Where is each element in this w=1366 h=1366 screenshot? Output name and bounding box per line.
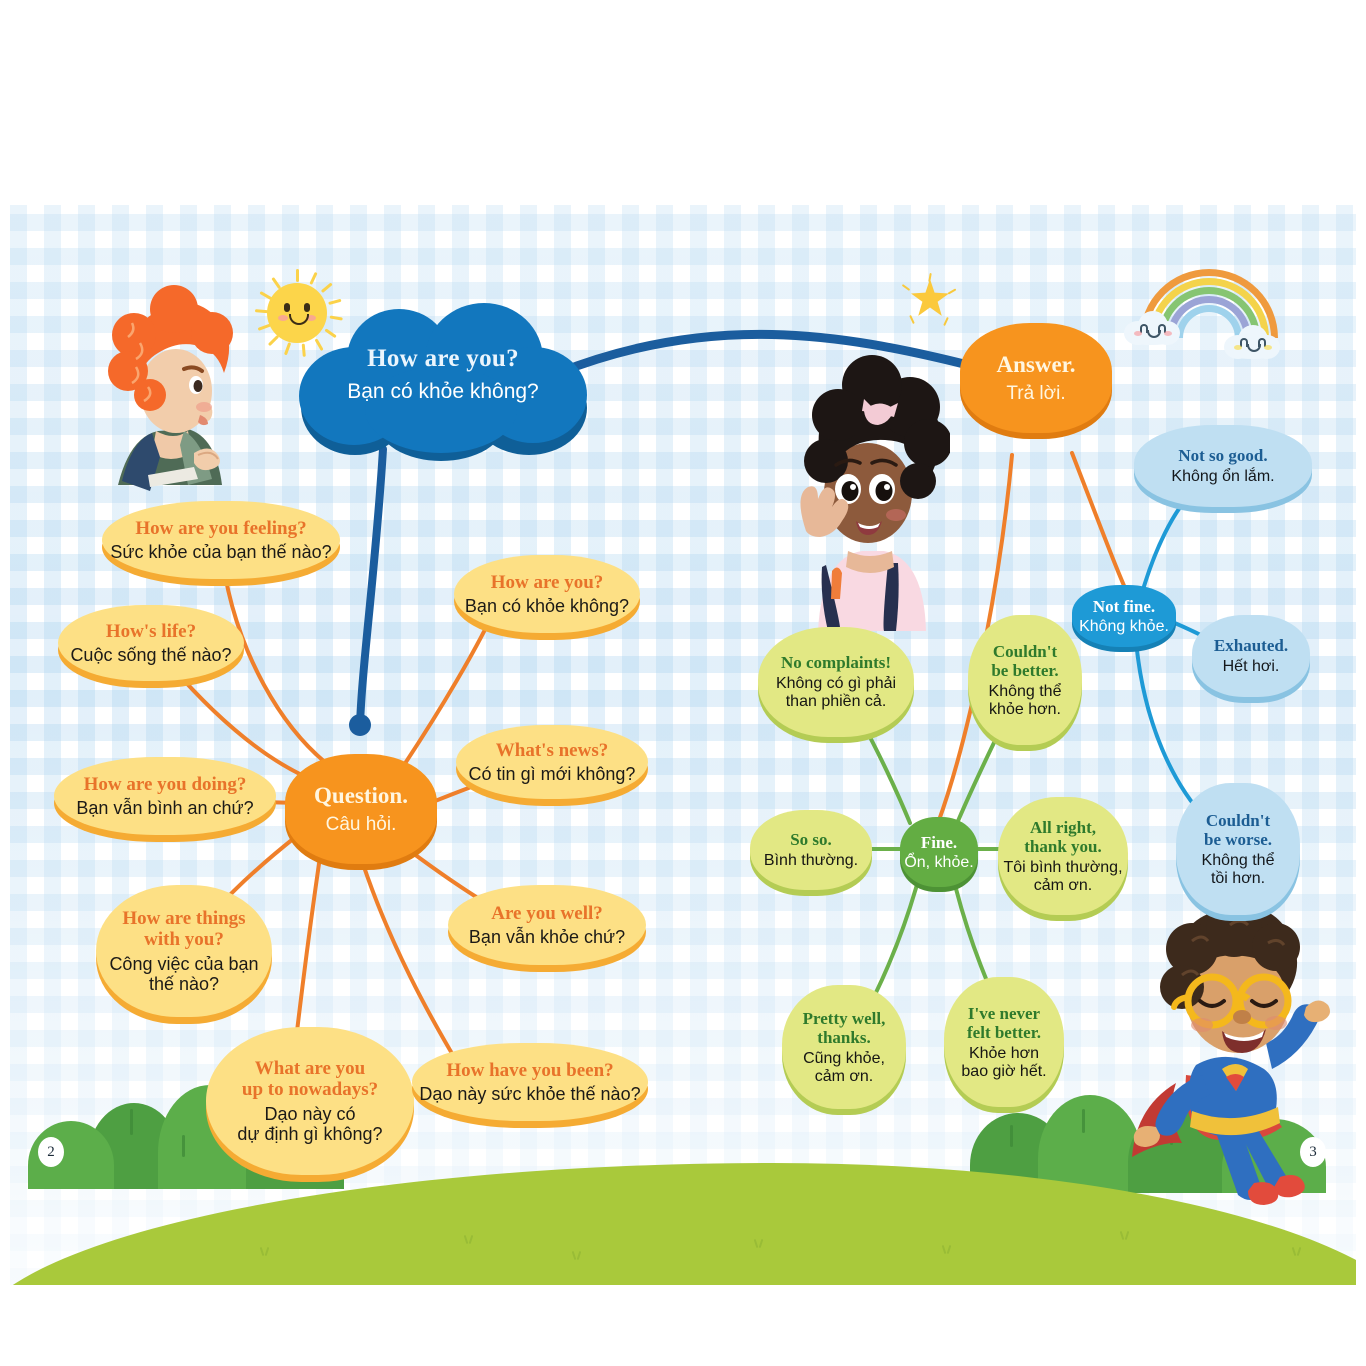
leaf-vi: Bạn vẫn bình an chứ?: [76, 798, 253, 818]
book-spread-page: How are you? Bạn có khỏe không?: [0, 0, 1366, 1366]
not-fine-hub-en: Not fine.: [1093, 597, 1155, 616]
leaf-en: How are you feeling?: [135, 518, 306, 539]
leaf-en: All right, thank you.: [1024, 818, 1101, 856]
fine-hub-en: Fine.: [921, 833, 957, 852]
question-leaf-how-are-things-with-you[interactable]: How are things with you? Công việc của b…: [96, 885, 272, 1017]
character-red-hair-boy: [88, 275, 248, 535]
question-hub[interactable]: Question. Câu hỏi.: [285, 754, 437, 864]
not-fine-hub-vi: Không khỏe.: [1079, 618, 1169, 636]
leaf-vi: Không thể tồi hơn.: [1202, 852, 1275, 888]
title-cloud-en: How are you?: [293, 345, 593, 373]
leaf-en: Couldn't be better.: [991, 642, 1058, 680]
star-icon: [903, 273, 957, 327]
leaf-vi: Không có gì phải than phiền cả.: [776, 675, 896, 711]
title-cloud-vi: Bạn có khỏe không?: [293, 380, 593, 404]
fine-hub-vi: Ổn, khỏe.: [904, 854, 973, 872]
answer-leaf-all-right-thank-you[interactable]: All right, thank you. Tôi bình thường, c…: [998, 797, 1128, 915]
leaf-vi: Cuộc sống thế nào?: [70, 645, 231, 665]
character-superhero-boy: [1130, 905, 1356, 1215]
character-waving-girl: [760, 335, 950, 635]
answer-hub[interactable]: Answer. Trả lời.: [960, 323, 1112, 433]
question-leaf-are-you-well[interactable]: Are you well? Bạn vẫn khỏe chứ?: [448, 885, 646, 965]
leaf-vi: Dạo này có dự định gì không?: [237, 1104, 382, 1144]
illustrated-spread: How are you? Bạn có khỏe không?: [10, 205, 1356, 1285]
question-leaf-how-are-you-feeling[interactable]: How are you feeling? Sức khỏe của bạn th…: [102, 501, 340, 579]
rainbow-cloud-face-right: [1224, 325, 1280, 359]
leaf-vi: Có tin gì mới không?: [469, 764, 636, 784]
leaf-en: How's life?: [106, 621, 196, 642]
leaf-en: How are things with you?: [122, 908, 245, 951]
leaf-en: How are you doing?: [84, 774, 247, 795]
leaf-en: I've never felt better.: [967, 1004, 1041, 1042]
answer-leaf-exhauted[interactable]: Exhauted. Hết hơi.: [1192, 615, 1310, 697]
leaf-en: How have you been?: [446, 1060, 613, 1081]
question-leaf-how-have-you-been[interactable]: How have you been? Dạo này sức khỏe thế …: [412, 1043, 648, 1121]
question-hub-vi: Câu hỏi.: [326, 814, 397, 835]
leaf-en: Are you well?: [491, 903, 603, 924]
page-number-left: 2: [38, 1137, 64, 1167]
question-leaf-what-are-you-up-to-nowadays[interactable]: What are you up to nowadays? Dạo này có …: [206, 1027, 414, 1175]
answer-leaf-pretty-well-thanks[interactable]: Pretty well, thanks. Cũng khỏe, cảm ơn.: [782, 985, 906, 1109]
answer-hub-en: Answer.: [996, 352, 1075, 378]
leaf-vi: Bạn vẫn khỏe chứ?: [469, 927, 625, 947]
question-hub-en: Question.: [314, 783, 408, 809]
answer-leaf-couldnt-be-worse[interactable]: Couldn't be worse. Không thể tồi hơn.: [1176, 783, 1300, 915]
question-leaf-how-are-you[interactable]: How are you? Bạn có khỏe không?: [454, 555, 640, 633]
leaf-en: Couldn't be worse.: [1204, 811, 1272, 849]
rainbow-icon: [1138, 267, 1270, 377]
leaf-vi: Khỏe hơn bao giờ hết.: [961, 1045, 1046, 1081]
leaf-vi: Bình thường.: [764, 852, 858, 870]
answer-leaf-no-complaints[interactable]: No complaints! Không có gì phải than phi…: [758, 627, 914, 737]
leaf-en: What are you up to nowadays?: [242, 1058, 378, 1101]
leaf-vi: Không ổn lắm.: [1171, 468, 1274, 486]
leaf-en: So so.: [790, 830, 832, 849]
leaf-vi: Sức khỏe của bạn thế nào?: [110, 542, 331, 562]
answer-hub-vi: Trả lời.: [1006, 383, 1065, 404]
leaf-vi: Hết hơi.: [1223, 658, 1280, 676]
not-fine-hub[interactable]: Not fine. Không khỏe.: [1072, 585, 1176, 647]
leaf-vi: Tôi bình thường, cảm ơn.: [1003, 859, 1122, 895]
answer-leaf-not-so-good[interactable]: Not so good. Không ổn lắm.: [1134, 425, 1312, 507]
leaf-en: Not so good.: [1178, 446, 1267, 465]
answer-leaf-so-so[interactable]: So so. Bình thường.: [750, 810, 872, 890]
leaf-vi: Bạn có khỏe không?: [465, 596, 629, 616]
question-leaf-hows-life[interactable]: How's life? Cuộc sống thế nào?: [58, 605, 244, 681]
question-leaf-whats-news[interactable]: What's news? Có tin gì mới không?: [456, 725, 648, 799]
page-number-right: 3: [1300, 1137, 1326, 1167]
fine-hub[interactable]: Fine. Ổn, khỏe.: [900, 817, 978, 887]
leaf-vi: Cũng khỏe, cảm ơn.: [803, 1050, 885, 1086]
answer-leaf-couldnt-be-better[interactable]: Couldn't be better. Không thể khỏe hơn.: [968, 615, 1082, 745]
leaf-en: Pretty well, thanks.: [803, 1009, 886, 1047]
rainbow-cloud-face-left: [1124, 311, 1180, 345]
leaf-en: How are you?: [491, 572, 604, 593]
leaf-vi: Không thể khỏe hơn.: [989, 683, 1062, 719]
leaf-en: No complaints!: [781, 653, 891, 672]
title-cloud: How are you? Bạn có khỏe không?: [293, 303, 593, 463]
leaf-vi: Dạo này sức khỏe thế nào?: [419, 1084, 640, 1104]
answer-leaf-ive-never-felt-better[interactable]: I've never felt better. Khỏe hơn bao giờ…: [944, 977, 1064, 1107]
leaf-en: What's news?: [496, 740, 608, 761]
leaf-vi: Công việc của bạn thế nào?: [109, 954, 258, 994]
leaf-en: Exhauted.: [1214, 636, 1288, 655]
question-leaf-how-are-you-doing[interactable]: How are you doing? Bạn vẫn bình an chứ?: [54, 757, 276, 835]
